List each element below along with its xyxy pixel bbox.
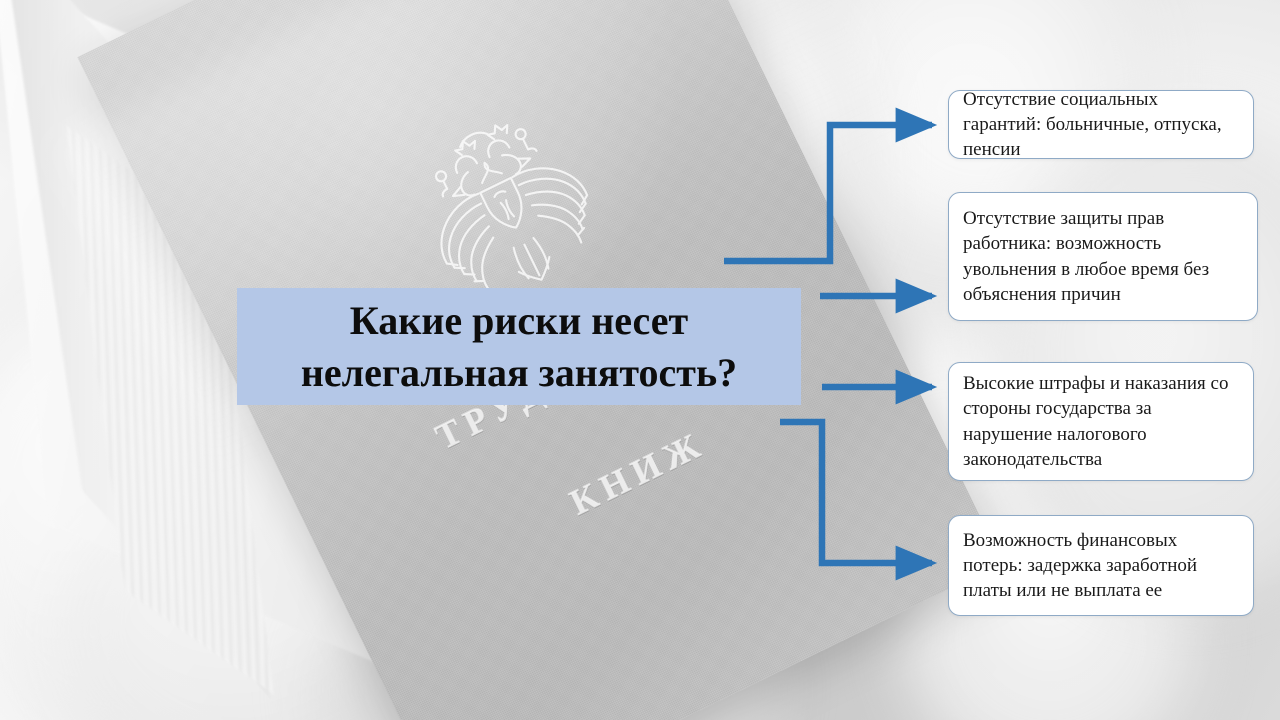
callout-box-2[interactable]: Отсутствие защиты прав работника: возмож… <box>948 192 1258 321</box>
slide-canvas: ТРУД КНИЖ Какие риски несет нелегальная … <box>0 0 1280 720</box>
callout-text-1: Отсутствие социальных гарантий: больничн… <box>949 87 1253 163</box>
callout-box-3[interactable]: Высокие штрафы и наказания со стороны го… <box>948 362 1254 481</box>
callout-text-2: Отсутствие защиты прав работника: возмож… <box>949 206 1257 307</box>
callout-text-4: Возможность финансовых потерь: задержка … <box>949 528 1253 604</box>
callout-text-3: Высокие штрафы и наказания со стороны го… <box>949 371 1253 472</box>
page-title: Какие риски несет нелегальная занятость? <box>237 295 801 397</box>
slide-title-panel: Какие риски несет нелегальная занятость? <box>237 288 801 405</box>
callout-box-1[interactable]: Отсутствие социальных гарантий: больничн… <box>948 90 1254 159</box>
callout-box-4[interactable]: Возможность финансовых потерь: задержка … <box>948 515 1254 616</box>
